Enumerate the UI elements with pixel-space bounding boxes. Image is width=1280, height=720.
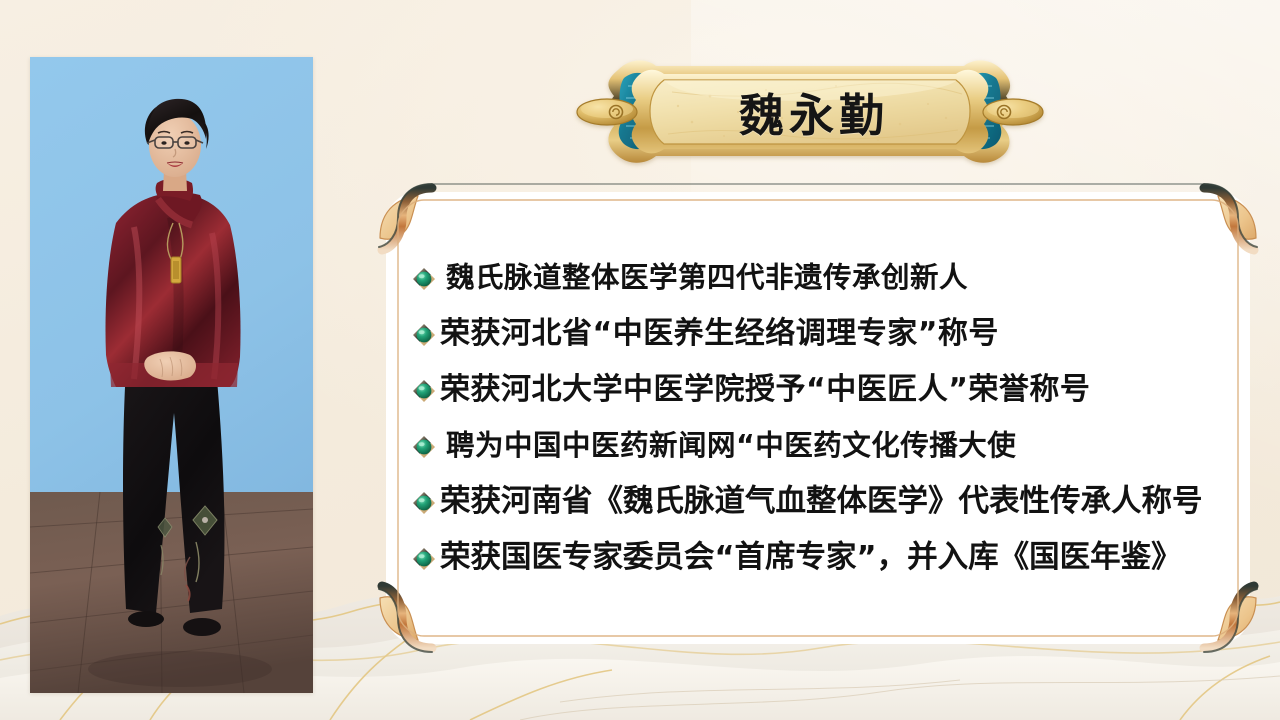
credential-item: 聘为中国中医药新闻网“中医药文化传播大使: [412, 418, 1228, 474]
credential-item: 荣获河北大学中医学院授予“中医匠人”荣誉称号: [412, 362, 1228, 418]
credentials-card: 魏氏脉道整体医学第四代非遗传承创新人 荣获河北省“中医养生经络调理专家”称号: [372, 178, 1264, 658]
portrait-photo: [30, 57, 313, 693]
credential-item-text: 荣获河北省“中医养生经络调理专家”称号: [440, 319, 999, 349]
page-title: 魏永勤: [560, 52, 1060, 170]
credential-item-text: 荣获河南省《魏氏脉道气血整体医学》代表性传承人称号: [440, 487, 1203, 518]
credential-item-text: 荣获国医专家委员会“首席专家”，并入库《国医年鉴》: [440, 543, 1182, 574]
credential-item: 荣获国医专家委员会“首席专家”，并入库《国医年鉴》: [412, 530, 1228, 586]
credential-item: 荣获河北省“中医养生经络调理专家”称号: [412, 306, 1228, 362]
credential-item: 魏氏脉道整体医学第四代非遗传承创新人: [412, 250, 1228, 306]
jade-gem-bullet-icon: [412, 491, 436, 515]
portrait-photo-image: [30, 57, 313, 693]
credentials-list: 魏氏脉道整体医学第四代非遗传承创新人 荣获河北省“中医养生经络调理专家”称号: [394, 200, 1242, 636]
jade-gem-bullet-icon: [412, 435, 436, 459]
credential-item: 荣获河南省《魏氏脉道气血整体医学》代表性传承人称号: [412, 474, 1228, 530]
jade-gem-bullet-icon: [412, 267, 436, 291]
jade-gem-bullet-icon: [412, 379, 436, 403]
credential-item-text: 魏氏脉道整体医学第四代非遗传承创新人: [446, 264, 968, 293]
jade-gem-bullet-icon: [412, 547, 436, 571]
jade-gem-bullet-icon: [412, 323, 436, 347]
credential-item-text: 聘为中国中医药新闻网“中医药文化传播大使: [446, 432, 1016, 461]
slide-canvas: 魏永勤: [0, 0, 1280, 720]
credential-item-text: 荣获河北大学中医学院授予“中医匠人”荣誉称号: [440, 375, 1090, 405]
title-banner: 魏永勤: [560, 52, 1060, 170]
